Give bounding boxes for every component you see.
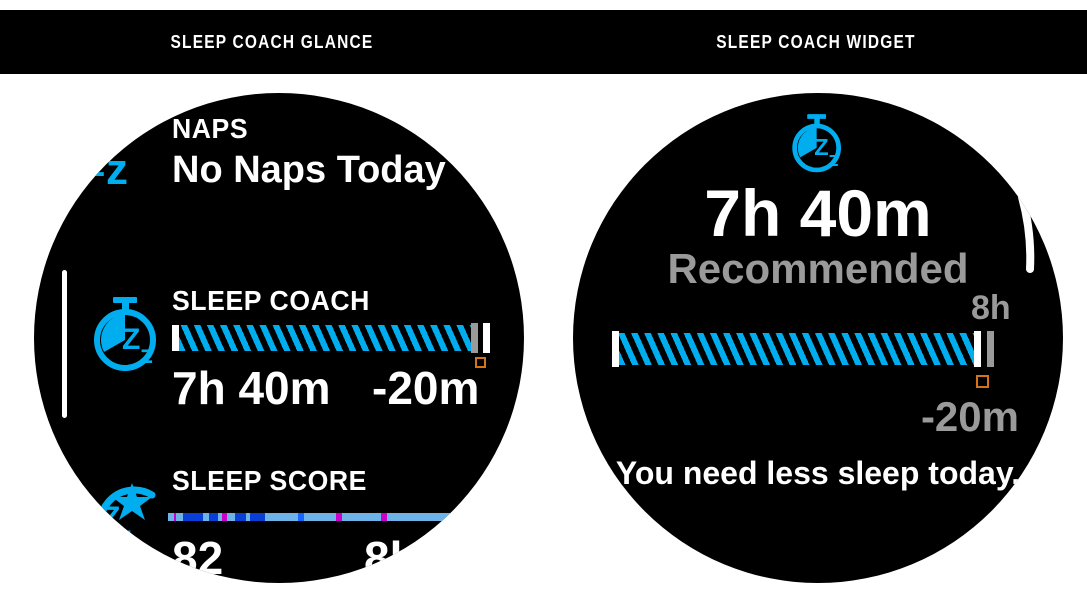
glance-screen: Z z NAPS No Naps Today Z z SLEEP COACH [34,93,524,583]
widget-screen: Z z 7h 40m Recommended 8h -20m You need … [573,93,1063,583]
widget-progress-goal-tick [974,331,981,367]
widget-progress-start-tick [612,331,619,367]
sleep-coach-title: SLEEP COACH [172,285,370,317]
widget-subtitle: Recommended [573,245,1063,293]
glance-header-label: SLEEP COACH GLANCE [170,32,373,53]
widget-progress-end-tick [987,331,994,367]
widget-progress-hatch-fill [619,333,974,365]
hypnogram-segment-light [176,513,183,521]
hypnogram-segment-light [387,513,457,521]
progress-start-tick [172,325,179,351]
sleep-score-value: 82 [172,531,223,583]
widget-header-label: SLEEP COACH WIDGET [716,32,915,53]
naps-value: No Naps Today [172,149,446,192]
watch-face-widget[interactable]: Z z 7h 40m Recommended 8h -20m You need … [573,93,1063,583]
screenshot-root: SLEEP COACH GLANCE SLEEP COACH WIDGET Z … [0,0,1087,599]
sleep-score-duration: 8h [364,531,418,583]
hypnogram-segment-deep [183,513,203,521]
svg-text:z: z [140,339,153,369]
hypnogram-segment-light [304,513,336,521]
hypnogram-segment-light [342,513,381,521]
widget-axis-label: 8h [971,289,1011,328]
sleep-score-hypnogram [168,513,458,521]
stopwatch-zz-icon: Z z [86,293,170,377]
hypnogram-segment-deep [209,513,218,521]
naps-title: NAPS [172,113,248,145]
svg-text:Z: Z [814,134,828,160]
sleep-score-title: SLEEP SCORE [172,465,367,497]
svg-text:z: z [118,520,132,551]
hypnogram-segment-deep [250,513,265,521]
hypnogram-segment-light [265,513,298,521]
progress-end-tick [483,323,490,353]
svg-text:Z: Z [122,323,140,356]
widget-delta: -20m [573,393,1019,441]
progress-goal-tick [471,323,478,353]
hypnogram-segment-light [227,513,235,521]
widget-message: You need less sleep today. [573,455,1063,492]
widget-duration: 7h 40m [573,175,1063,251]
header-cell-glance: SLEEP COACH GLANCE [0,10,543,74]
progress-hatch-fill [179,325,471,351]
zz-icon: Z z [80,128,138,190]
svg-text:Z: Z [84,146,105,184]
header-cell-widget: SLEEP COACH WIDGET [544,10,1087,74]
watch-face-glance[interactable]: Z z NAPS No Naps Today Z z SLEEP COACH [34,93,524,583]
sleep-coach-delta: -20m [372,361,479,415]
svg-text:z: z [828,149,838,171]
header-band: SLEEP COACH GLANCE SLEEP COACH WIDGET [0,10,1087,74]
sleep-coach-duration: 7h 40m [172,361,331,415]
moon-star-zz-icon: Z z [82,475,174,567]
stopwatch-zz-icon: Z z [786,111,852,177]
widget-progress-orange-marker [976,375,989,388]
svg-text:z: z [106,145,128,194]
glance-scrollbar[interactable] [62,270,67,418]
hypnogram-segment-deep [235,513,246,521]
